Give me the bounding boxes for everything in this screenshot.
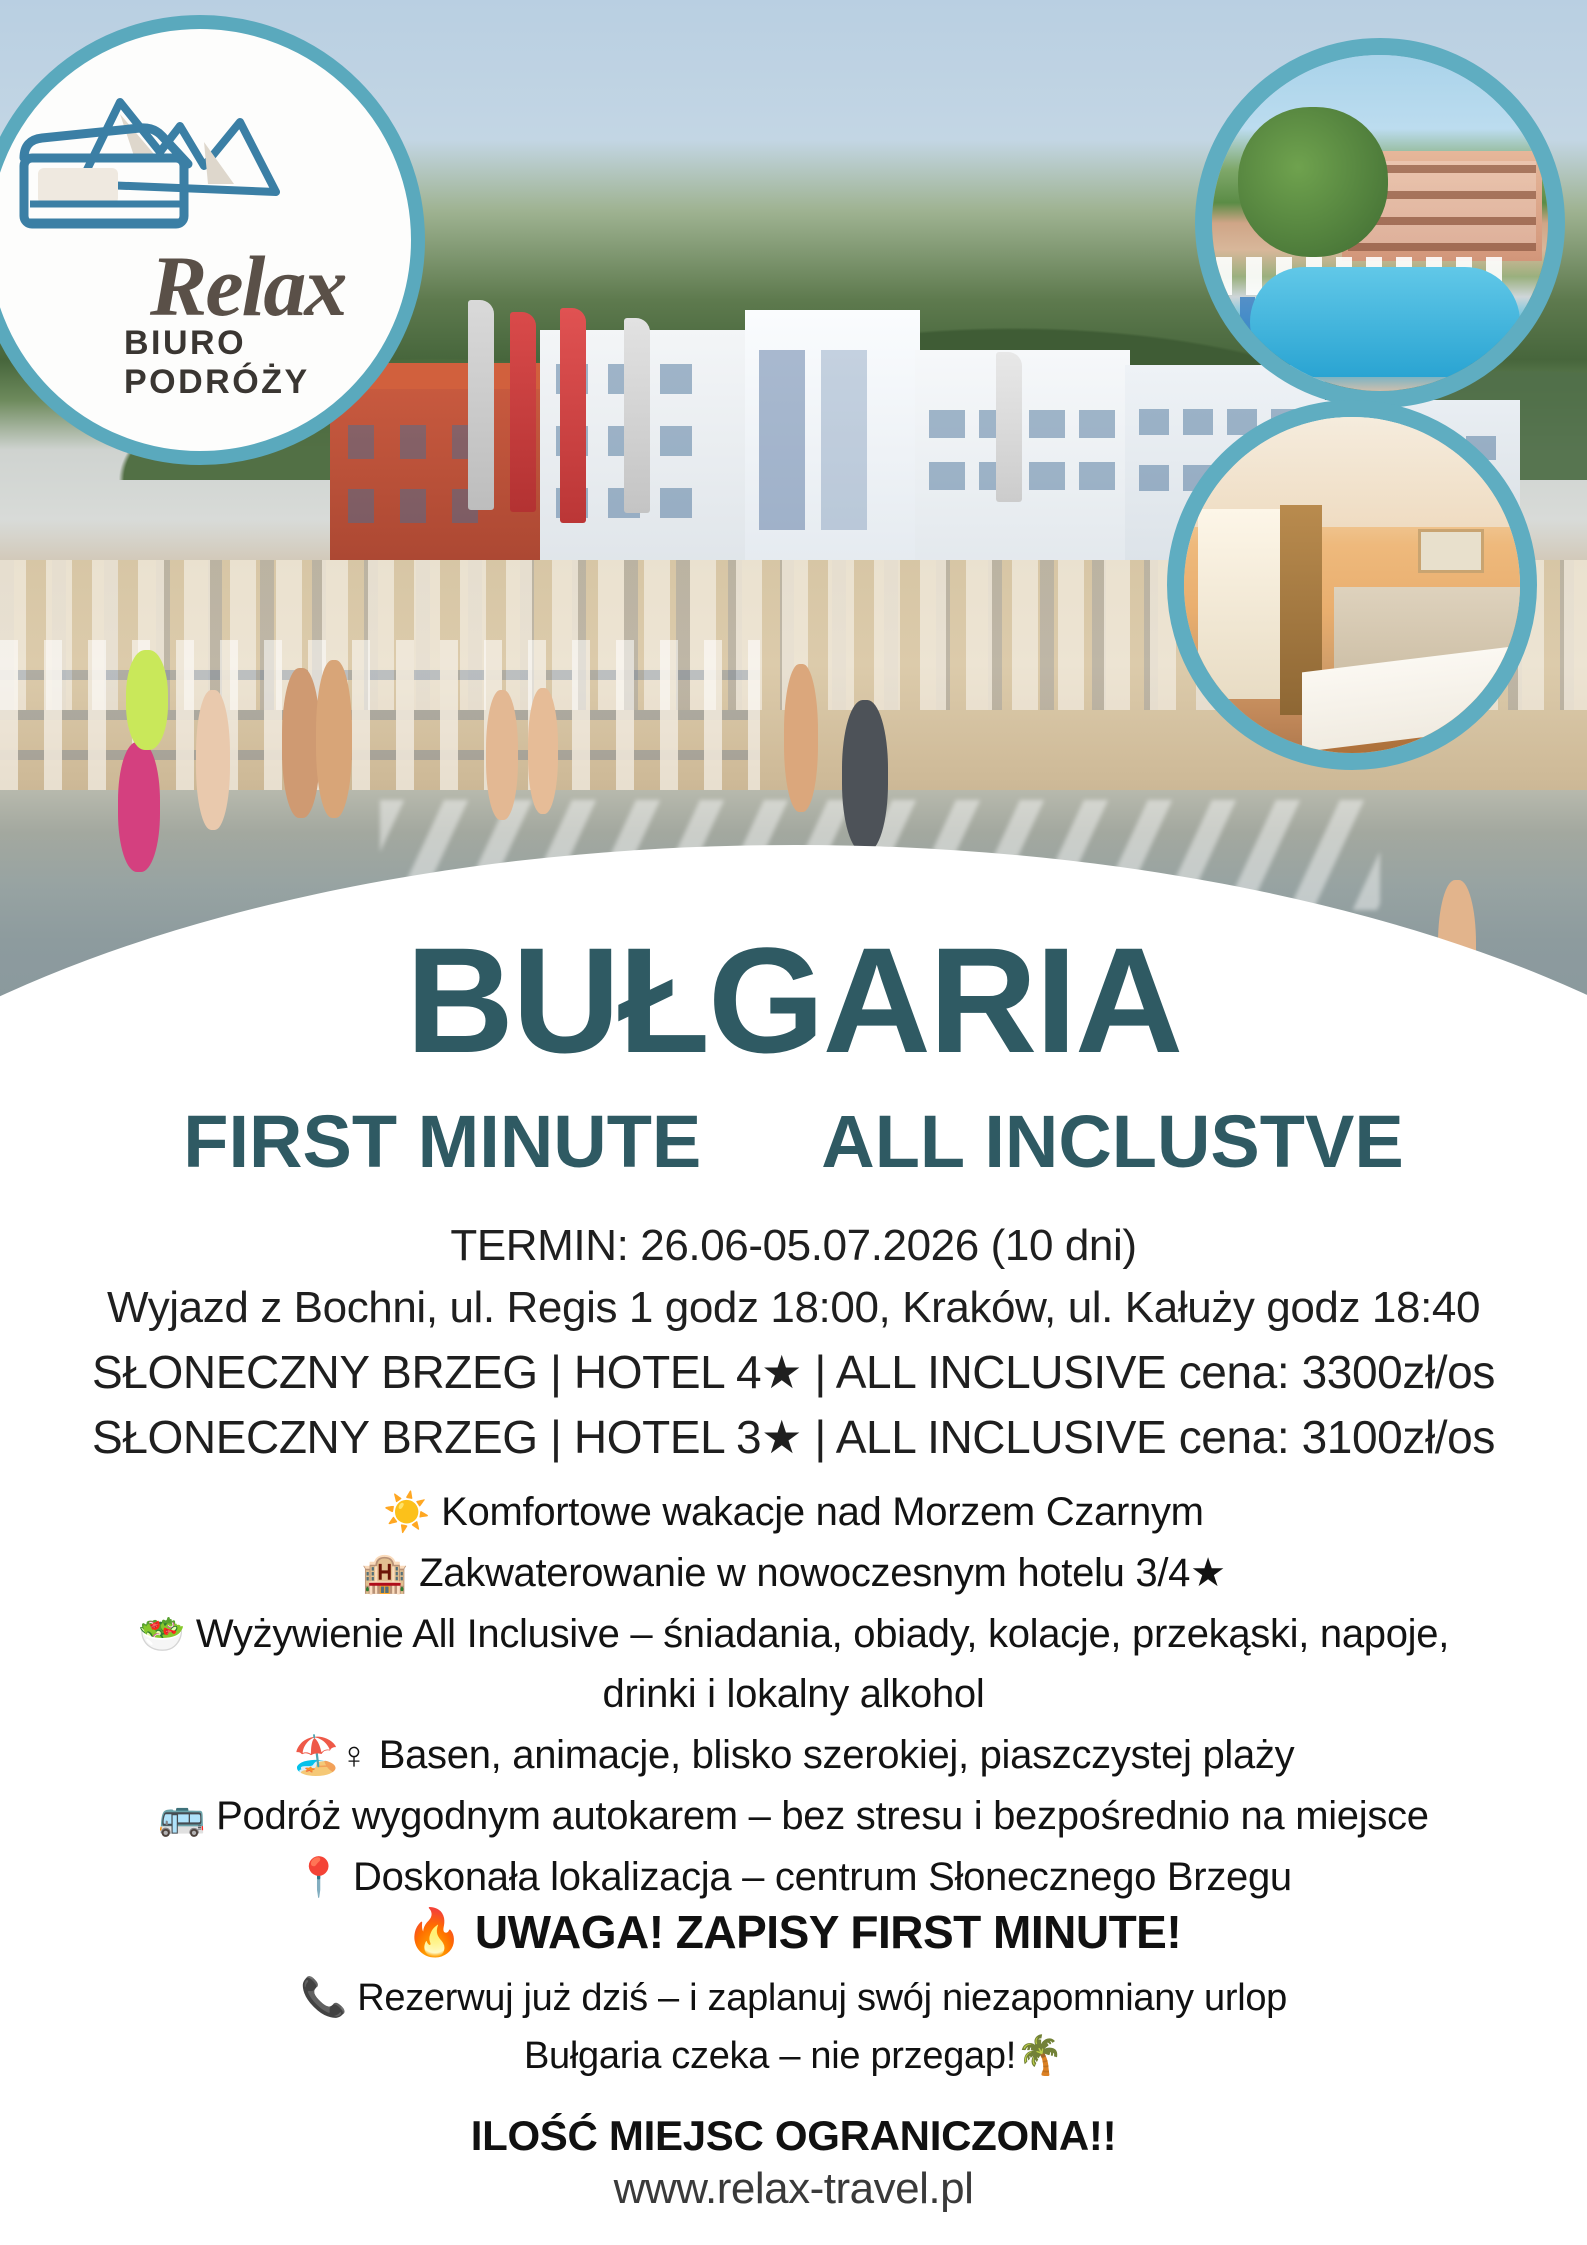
list-item: 🏨 Zakwaterowanie w nowoczesnym hotelu 3/… (0, 1543, 1587, 1604)
promo-flag (996, 352, 1022, 502)
beach-person (528, 688, 558, 814)
list-item-continuation: drinki i lokalny alkohol (0, 1664, 1587, 1725)
promo-flag (510, 312, 536, 512)
cta-limited-seats: ILOŚĆ MIEJSC OGRANICZONA!! (0, 2112, 1587, 2160)
room-wall-art (1418, 529, 1484, 573)
cta-waiting-label: Bułgaria czeka – nie przegap! (524, 2035, 1016, 2077)
beach-pool-icon: 🏖️♀ (293, 1735, 368, 1777)
feature-list: ☀️ Komfortowe wakacje nad Morzem Czarnym… (0, 1482, 1587, 1908)
cta-headline-label: UWAGA! ZAPISY FIRST MINUTE! (475, 1906, 1181, 1958)
hotel-pool-photo (1195, 38, 1565, 408)
list-item-label: Wyżywienie All Inclusive – śniadania, ob… (196, 1612, 1449, 1656)
list-item-label: drinki i lokalny alkohol (603, 1672, 985, 1716)
beach-person (126, 650, 168, 750)
promo-flag (624, 318, 650, 513)
beach-person (784, 664, 818, 812)
sun-icon: ☀️ (383, 1492, 430, 1534)
list-item-label: Podróż wygodnym autokarem – bez stresu i… (216, 1794, 1429, 1838)
cta-website[interactable]: www.relax-travel.pl (0, 2164, 1587, 2214)
list-item: 🏖️♀ Basen, animacje, blisko szerokiej, p… (0, 1725, 1587, 1786)
list-item: 🚌 Podróż wygodnym autokarem – bez stresu… (0, 1786, 1587, 1847)
list-item-label: Zakwaterowanie w nowoczesnym hotelu 3/4★ (419, 1551, 1225, 1595)
salad-icon: 🥗 (138, 1614, 185, 1656)
detail-price-hotel4: SŁONECZNY BRZEG | HOTEL 4★ | ALL INCLUSI… (0, 1340, 1587, 1405)
logo-tagline: BIURO PODRÓŻY (124, 324, 400, 402)
white-hotel-building-2 (745, 310, 920, 600)
subtitle-first-minute: FIRST MINUTE (183, 1099, 701, 1184)
cta-reserve-label: Rezerwuj już dziś – i zaplanuj swój niez… (357, 1977, 1287, 2019)
cta-block: 🔥 UWAGA! ZAPISY FIRST MINUTE! 📞 Rezerwuj… (0, 1905, 1587, 2245)
list-item-label: Komfortowe wakacje nad Morzem Czarnym (441, 1490, 1204, 1534)
hotel-room-photo (1167, 400, 1537, 770)
phone-icon: 📞 (300, 1977, 347, 2019)
detail-term: TERMIN: 26.06-05.07.2026 (10 dni) (0, 1215, 1587, 1277)
travel-poster: Relax BIURO PODRÓŻY BUŁGARIA FIRST MINUT (0, 0, 1587, 2245)
beach-person (842, 700, 888, 852)
beach-person (316, 660, 352, 818)
list-item: 🥗 Wyżywienie All Inclusive – śniadania, … (0, 1604, 1587, 1665)
palm-tree-icon: 🌴 (1016, 2035, 1063, 2077)
list-item-label: Doskonała lokalizacja – centrum Słoneczn… (353, 1855, 1292, 1899)
headline-subrow: FIRST MINUTE ALL INCLUSTVE (0, 1099, 1587, 1184)
promo-flag (560, 308, 586, 523)
detail-price-hotel3: SŁONECZNY BRZEG | HOTEL 3★ | ALL INCLUSI… (0, 1405, 1587, 1470)
headline-block: BUŁGARIA FIRST MINUTE ALL INCLUSTVE (0, 925, 1587, 1184)
pin-icon: 📍 (295, 1857, 342, 1899)
hotel-icon: 🏨 (361, 1553, 408, 1595)
list-item: ☀️ Komfortowe wakacje nad Morzem Czarnym (0, 1482, 1587, 1543)
list-item-label: Basen, animacje, blisko szerokiej, piasz… (379, 1733, 1295, 1777)
pool-tree (1238, 107, 1388, 257)
cta-waiting-line: Bułgaria czeka – nie przegap!🌴 (0, 2034, 1587, 2078)
trip-details: TERMIN: 26.06-05.07.2026 (10 dni) Wyjazd… (0, 1215, 1587, 1471)
beach-person (196, 690, 230, 830)
list-item: 📍 Doskonała lokalizacja – centrum Słonec… (0, 1847, 1587, 1908)
beach-person (282, 668, 320, 818)
beach-person (118, 742, 160, 872)
cta-reserve-line: 📞 Rezerwuj już dziś – i zaplanuj swój ni… (0, 1976, 1587, 2020)
logo-wordmark: Relax (150, 236, 345, 336)
detail-departure: Wyjazd z Bochni, ul. Regis 1 godz 18:00,… (0, 1277, 1587, 1339)
promo-flag (468, 300, 494, 510)
fire-icon: 🔥 (406, 1906, 463, 1958)
beach-person (486, 690, 518, 820)
cta-headline: 🔥 UWAGA! ZAPISY FIRST MINUTE! (0, 1905, 1587, 1960)
subtitle-all-inclusive: ALL INCLUSTVE (821, 1099, 1403, 1184)
swimming-pool (1250, 267, 1520, 377)
page-title: BUŁGARIA (0, 925, 1587, 1075)
relax-logo: Relax BIURO PODRÓŻY (0, 15, 425, 465)
bus-icon: 🚌 (158, 1796, 205, 1838)
